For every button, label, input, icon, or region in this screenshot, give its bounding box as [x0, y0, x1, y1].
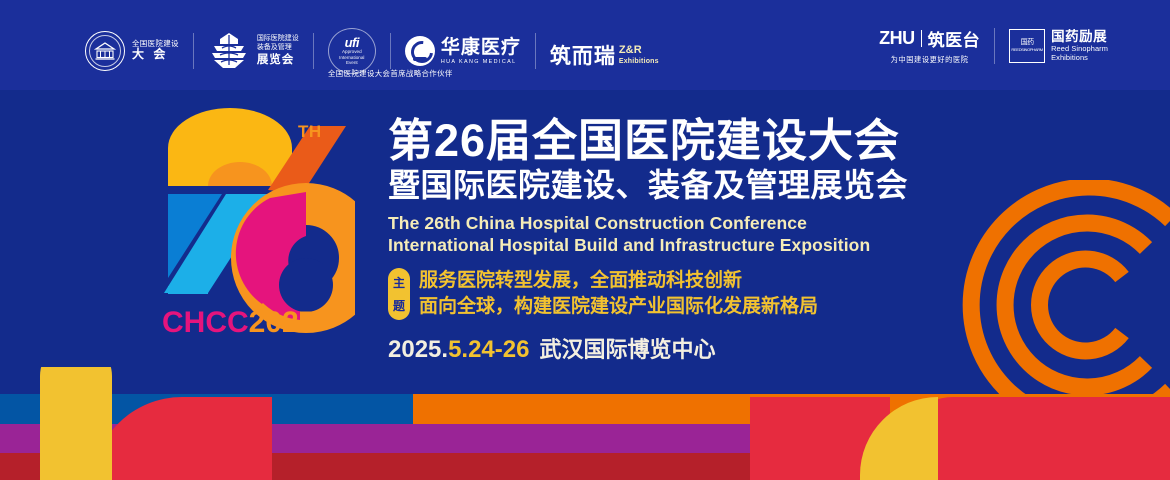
zhuyitai-divider	[921, 30, 922, 47]
theme-line-1: 服务医院转型发展，全面推动科技创新	[419, 268, 818, 294]
logo-divider	[994, 28, 995, 64]
logo-divider	[535, 33, 536, 69]
zhurui-name-cn: 筑而瑞	[550, 46, 616, 67]
huakang-swirl-icon	[405, 36, 435, 66]
theme-section: 主 题 服务医院转型发展，全面推动科技创新 面向全球，构建医院建设产业国际化发展…	[388, 268, 908, 319]
classical-building-seal-icon	[85, 31, 125, 71]
chcc-conference-logo[interactable]: 全国医院建设 大 会	[85, 31, 179, 71]
reed-name-cn: 国药励展	[1051, 29, 1108, 45]
ufi-abbr: ufi	[345, 36, 359, 49]
exhibition-logo-line3: 展览会	[257, 53, 299, 67]
zhuyitai-name-cn: 筑医台	[928, 26, 981, 51]
sinopharm-mark-top: 国药	[1021, 39, 1034, 46]
logo-divider	[193, 33, 194, 69]
event-days: 5.24-26	[448, 336, 529, 363]
logo-divider	[313, 33, 314, 69]
chcc-wordmark: CHCC2025	[162, 306, 315, 340]
main-text-block: 第26届全国医院建设大会 暨国际医院建设、装备及管理展览会 The 26th C…	[388, 118, 908, 364]
zhurui-name-en1: Z&R	[619, 43, 659, 57]
yellow-pill	[40, 367, 112, 480]
snowflake-building-icon	[208, 31, 250, 71]
huakang-name-en: HUA KANG MEDICAL	[441, 59, 521, 65]
theme-badge-char1: 主	[393, 274, 405, 291]
sinopharm-seal-icon: 国药 REEDSINOPHARM	[1009, 29, 1045, 63]
bottom-color-bands	[0, 367, 1170, 480]
page-subtitle-en: International Hospital Build and Infrast…	[388, 234, 908, 256]
sponsor-header-bar: 全国医院建设 大 会	[0, 0, 1170, 90]
exhibition-logo-line2: 装备及管理	[257, 44, 299, 53]
zhuyitai-abbr: ZHU	[879, 28, 915, 49]
zhuyitai-tagline: 为中国建设更好的医院	[891, 55, 969, 65]
zhurui-name-en2: Exhibitions	[619, 58, 659, 67]
reed-name-en2: Exhibitions	[1051, 54, 1108, 63]
sponsor-logos-right: ZHU 筑医台 为中国建设更好的医院 国药 REEDSINOPHARM 国药励展…	[879, 26, 1108, 65]
sinopharm-mark-bottom: REEDSINOPHARM	[1011, 48, 1042, 52]
emblem-ordinal-suffix: TH	[298, 122, 322, 142]
chcc-wordmark-letters: CHCC	[162, 306, 249, 339]
zhuyitai-logo[interactable]: ZHU 筑医台 为中国建设更好的医院	[879, 26, 980, 65]
event-year: 2025.	[388, 336, 448, 363]
huakang-name-cn: 华康医疗	[441, 38, 521, 57]
reed-sinopharm-logo[interactable]: 国药 REEDSINOPHARM 国药励展 Reed Sinopharm Exh…	[1009, 29, 1108, 63]
theme-badge-char2: 题	[393, 297, 405, 314]
chcc-wordmark-year: 2025	[249, 306, 316, 339]
ufi-sub3: Event	[346, 60, 358, 66]
theme-line-2: 面向全球，构建医院建设产业国际化发展新格局	[419, 294, 818, 320]
logo-divider	[390, 33, 391, 69]
event-date-venue: 2025.5.24-26武汉国际博览中心	[388, 332, 908, 364]
huakang-tagline: 全国医院建设大会首席战略合作伙伴	[328, 68, 453, 79]
exhibition-logo-line1: 国际医院建设	[257, 35, 299, 44]
event-venue: 武汉国际博览中心	[539, 337, 715, 362]
zhurui-logo[interactable]: 筑而瑞 Z&R Exhibitions	[550, 35, 659, 66]
page-title-cn: 第26届全国医院建设大会	[388, 118, 908, 164]
chcc-logo-line2: 大 会	[132, 48, 179, 62]
huakang-medical-logo[interactable]: 华康医疗 HUA KANG MEDICAL	[405, 36, 521, 66]
page-subtitle-cn: 暨国际医院建设、装备及管理展览会	[388, 167, 908, 204]
theme-badge: 主 题	[388, 268, 410, 319]
page-title-en: The 26th China Hospital Construction Con…	[388, 212, 908, 234]
exhibition-logo[interactable]: 国际医院建设 装备及管理 展览会	[208, 31, 299, 71]
poster-banner: 全国医院建设 大 会	[0, 0, 1170, 480]
